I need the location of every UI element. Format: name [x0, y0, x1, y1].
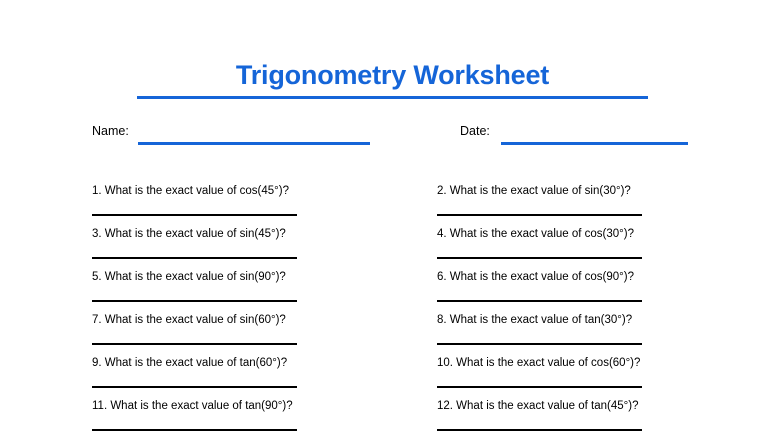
- question-text: 1. What is the exact value of cos(45°)?: [92, 184, 402, 198]
- question-item: 3. What is the exact value of sin(45°)?: [92, 227, 402, 270]
- date-input-line[interactable]: [501, 142, 688, 145]
- answer-line[interactable]: [92, 300, 297, 302]
- question-text: 3. What is the exact value of sin(45°)?: [92, 227, 402, 241]
- question-item: 12. What is the exact value of tan(45°)?: [437, 399, 747, 442]
- answer-line[interactable]: [437, 429, 642, 431]
- answer-line[interactable]: [437, 300, 642, 302]
- question-text: 4. What is the exact value of cos(30°)?: [437, 227, 747, 241]
- answer-line[interactable]: [92, 343, 297, 345]
- question-item: 10. What is the exact value of cos(60°)?: [437, 356, 747, 399]
- question-item: 5. What is the exact value of sin(90°)?: [92, 270, 402, 313]
- question-text: 7. What is the exact value of sin(60°)?: [92, 313, 402, 327]
- meta-row: Name: Date:: [0, 124, 784, 148]
- question-text: 10. What is the exact value of cos(60°)?: [437, 356, 747, 370]
- worksheet-page: Trigonometry Worksheet Name: Date: 1. Wh…: [0, 0, 784, 441]
- question-item: 1. What is the exact value of cos(45°)?: [92, 184, 402, 227]
- question-text: 8. What is the exact value of tan(30°)?: [437, 313, 747, 327]
- name-label: Name:: [92, 124, 129, 138]
- title-block: Trigonometry Worksheet: [137, 58, 648, 99]
- name-field: Name:: [92, 124, 370, 148]
- answer-line[interactable]: [437, 257, 642, 259]
- question-text: 9. What is the exact value of tan(60°)?: [92, 356, 402, 370]
- date-label: Date:: [460, 124, 490, 138]
- answer-line[interactable]: [437, 386, 642, 388]
- question-text: 11. What is the exact value of tan(90°)?: [92, 399, 402, 413]
- question-text: 12. What is the exact value of tan(45°)?: [437, 399, 747, 413]
- question-text: 5. What is the exact value of sin(90°)?: [92, 270, 402, 284]
- answer-line[interactable]: [437, 214, 642, 216]
- question-item: 4. What is the exact value of cos(30°)?: [437, 227, 747, 270]
- questions-column-left: 1. What is the exact value of cos(45°)? …: [92, 184, 402, 442]
- date-field: Date:: [460, 124, 688, 148]
- question-text: 2. What is the exact value of sin(30°)?: [437, 184, 747, 198]
- question-text: 6. What is the exact value of cos(90°)?: [437, 270, 747, 284]
- answer-line[interactable]: [92, 214, 297, 216]
- answer-line[interactable]: [92, 429, 297, 431]
- question-item: 11. What is the exact value of tan(90°)?: [92, 399, 402, 442]
- answer-line[interactable]: [92, 257, 297, 259]
- questions-column-right: 2. What is the exact value of sin(30°)? …: [437, 184, 747, 442]
- question-item: 9. What is the exact value of tan(60°)?: [92, 356, 402, 399]
- question-item: 8. What is the exact value of tan(30°)?: [437, 313, 747, 356]
- page-title: Trigonometry Worksheet: [137, 58, 648, 92]
- name-input-line[interactable]: [138, 142, 370, 145]
- question-item: 7. What is the exact value of sin(60°)?: [92, 313, 402, 356]
- answer-line[interactable]: [92, 386, 297, 388]
- title-underline-rule: [137, 96, 648, 99]
- question-item: 6. What is the exact value of cos(90°)?: [437, 270, 747, 313]
- question-item: 2. What is the exact value of sin(30°)?: [437, 184, 747, 227]
- answer-line[interactable]: [437, 343, 642, 345]
